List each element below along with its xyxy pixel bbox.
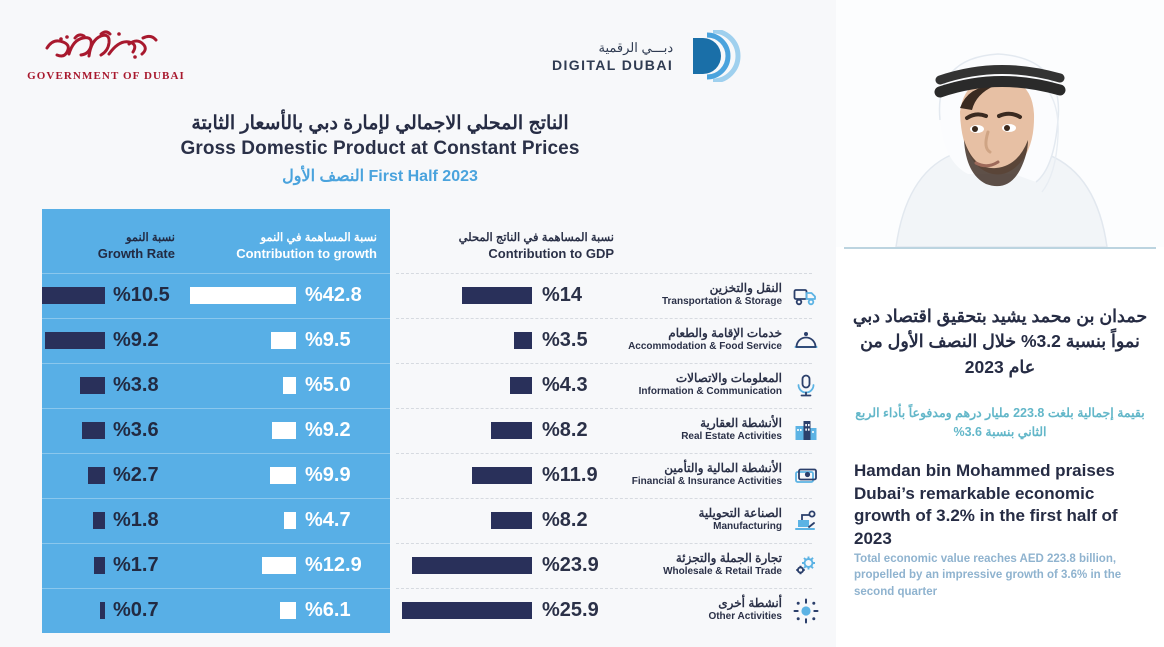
food-dome-icon [786,318,826,363]
sidebar-subtext-arabic: بقيمة إجمالية بلغت 223.8 مليار درهم ومدف… [852,404,1148,442]
cell-contribution-to-gdp: %14 [392,273,622,318]
table-row: %2.7%9.9%11.9الأنشطة المالية والتأمينFin… [0,453,836,498]
sector-label-arabic: تجارة الجملة والتجزئة [624,551,782,565]
sector-label-arabic: المعلومات والاتصالات [624,371,782,385]
sidebar-divider [844,247,1156,249]
cell-contribution-to-gdp: %8.2 [392,498,622,543]
cell-sector-label: النقل والتخزينTransportation & Storage [624,273,782,318]
column-header-growth-rate-arabic: نسبة النمو [42,231,175,245]
growth-rate-bar [42,287,105,304]
cell-sector-label: تجارة الجملة والتجزئةWholesale & Retail … [624,543,782,588]
cell-contribution-to-gdp: %11.9 [392,453,622,498]
cell-contribution-to-growth: %6.1 [190,588,387,633]
growth-rate-value: %1.7 [113,554,175,577]
cell-growth-rate: %10.5 [42,273,187,318]
government-of-dubai-logo: GOVERNMENT OF DUBAI [26,26,186,82]
growth-rate-value: %1.8 [113,509,175,532]
contribution-to-gdp-value: %3.5 [542,329,618,352]
contribution-to-gdp-bar [412,557,532,574]
page-title-english: Gross Domestic Product at Constant Price… [0,138,760,160]
contribution-to-gdp-bar [514,332,532,349]
cell-contribution-to-growth: %12.9 [190,543,387,588]
column-header-growth-rate: نسبة النمو Growth Rate [42,209,187,273]
truck-icon [786,273,826,318]
digital-dubai-d-mark-icon [683,30,741,82]
sector-label-arabic: أنشطة أخرى [624,596,782,610]
growth-rate-value: %2.7 [113,464,175,487]
contribution-to-gdp-value: %23.9 [542,554,618,577]
sector-label-english: Manufacturing [624,521,782,534]
sector-label-english: Other Activities [624,611,782,624]
contribution-to-gdp-value: %4.3 [542,374,618,397]
contribution-to-gdp-bar [402,602,532,619]
contribution-to-gdp-bar [472,467,532,484]
cell-sector-label: الأنشطة المالية والتأمينFinancial & Insu… [624,453,782,498]
growth-rate-value: %3.6 [113,419,175,442]
sector-label-english: Wholesale & Retail Trade [624,566,782,579]
column-header-contribution-to-gdp-arabic: نسبة المساهمة في الناتج المحلي [392,231,614,245]
cell-contribution-to-growth: %9.5 [190,318,387,363]
digital-dubai-wordmark: دبـــي الرقمية DIGITAL DUBAI [552,40,673,73]
infographic-root: GOVERNMENT OF DUBAI دبـــي الرقمية DIGIT… [0,0,1164,647]
contribution-to-growth-value: %42.8 [305,284,377,307]
cell-contribution-to-growth: %5.0 [190,363,387,408]
sector-label-english: Financial & Insurance Activities [624,476,782,489]
sector-label-arabic: الأنشطة العقارية [624,416,782,430]
cell-sector-label: الصناعة التحويليةManufacturing [624,498,782,543]
digital-dubai-english-label: DIGITAL DUBAI [552,57,673,73]
growth-rate-bar [100,602,105,619]
contribution-to-growth-value: %9.9 [305,464,377,487]
cell-growth-rate: %2.7 [42,453,187,498]
portrait-photo [836,0,1164,247]
contribution-to-growth-value: %4.7 [305,509,377,532]
sidebar-headline-english: Hamdan bin Mohammed praises Dubai’s rema… [854,460,1146,550]
contribution-to-growth-value: %9.5 [305,329,377,352]
sector-label-arabic: خدمات الإقامة والطعام [624,326,782,340]
cell-contribution-to-growth: %9.9 [190,453,387,498]
contribution-to-gdp-value: %14 [542,284,618,307]
contribution-to-gdp-bar [491,512,532,529]
contribution-to-gdp-value: %8.2 [542,509,618,532]
cell-growth-rate: %1.7 [42,543,187,588]
contribution-to-growth-bar [283,377,296,394]
contribution-to-growth-bar [190,287,296,304]
growth-rate-bar [93,512,105,529]
table-row: %0.7%6.1%25.9أنشطة أخرىOther Activities [0,588,836,633]
cell-contribution-to-growth: %42.8 [190,273,387,318]
growth-rate-bar [88,467,105,484]
table-row: %1.8%4.7%8.2الصناعة التحويليةManufacturi… [0,498,836,543]
contribution-to-growth-value: %6.1 [305,599,377,622]
contribution-to-gdp-value: %11.9 [542,464,618,487]
table-row: %3.8%5.0%4.3المعلومات والاتصالاتInformat… [0,363,836,408]
sidebar-headline-arabic: حمدان بن محمد يشيد بتحقيق اقتصاد دبي نمو… [852,304,1148,380]
table-row: %9.2%9.5%3.5خدمات الإقامة والطعامAccommo… [0,318,836,363]
microphone-icon [786,363,826,408]
contribution-to-growth-bar [262,557,296,574]
growth-rate-value: %9.2 [113,329,175,352]
digital-dubai-logo: دبـــي الرقمية DIGITAL DUBAI [552,30,741,82]
growth-rate-value: %10.5 [113,284,175,307]
growth-rate-bar [45,332,105,349]
starburst-icon [786,588,826,633]
cell-sector-label: الأنشطة العقاريةReal Estate Activities [624,408,782,453]
buildings-icon [786,408,826,453]
cell-sector-label: أنشطة أخرىOther Activities [624,588,782,633]
cell-sector-label: المعلومات والاتصالاتInformation & Commun… [624,363,782,408]
cell-growth-rate: %3.8 [42,363,187,408]
column-header-growth-rate-english: Growth Rate [42,246,175,262]
machine-icon [786,498,826,543]
contribution-to-gdp-bar [491,422,532,439]
gears-icon [786,543,826,588]
contribution-to-growth-value: %12.9 [305,554,377,577]
sector-label-arabic: الصناعة التحويلية [624,506,782,520]
sector-label-english: Real Estate Activities [624,431,782,444]
contribution-to-growth-value: %9.2 [305,419,377,442]
money-icon [786,453,826,498]
growth-rate-bar [80,377,105,394]
sector-label-arabic: النقل والتخزين [624,281,782,295]
cell-growth-rate: %3.6 [42,408,187,453]
growth-rate-value: %3.8 [113,374,175,397]
period-subtitle-english: First Half 2023 [369,168,478,185]
period-subtitle: النصف الأول First Half 2023 [0,166,760,186]
cell-contribution-to-gdp: %8.2 [392,408,622,453]
table-row: %3.6%9.2%8.2الأنشطة العقاريةReal Estate … [0,408,836,453]
government-of-dubai-label: GOVERNMENT OF DUBAI [26,70,186,82]
column-header-contribution-to-growth-arabic: نسبة المساهمة في النمو [190,231,377,245]
contribution-to-growth-bar [271,332,296,349]
gdp-table: نسبة النمو Growth Rate نسبة المساهمة في … [0,209,836,633]
growth-rate-value: %0.7 [113,599,175,622]
period-subtitle-arabic: النصف الأول [282,168,364,185]
column-header-contribution-to-growth-english: Contribution to growth [190,246,377,262]
column-header-contribution-to-growth: نسبة المساهمة في النمو Contribution to g… [190,209,387,273]
cell-growth-rate: %1.8 [42,498,187,543]
sidebar-subtext-english: Total economic value reaches AED 223.8 b… [854,551,1142,600]
contribution-to-gdp-bar [462,287,532,304]
contribution-to-gdp-value: %8.2 [542,419,618,442]
contribution-to-gdp-value: %25.9 [542,599,618,622]
contribution-to-growth-value: %5.0 [305,374,377,397]
cell-contribution-to-gdp: %3.5 [392,318,622,363]
cell-contribution-to-growth: %9.2 [190,408,387,453]
contribution-to-growth-bar [280,602,296,619]
cell-growth-rate: %0.7 [42,588,187,633]
growth-rate-bar [94,557,105,574]
titles-block: الناتج المحلي الاجمالي لإمارة دبي بالأسع… [0,112,760,186]
cell-contribution-to-growth: %4.7 [190,498,387,543]
digital-dubai-arabic-label: دبـــي الرقمية [552,40,673,56]
contribution-to-gdp-bar [510,377,532,394]
table-row: %1.7%12.9%23.9تجارة الجملة والتجزئةWhole… [0,543,836,588]
column-header-contribution-to-gdp: نسبة المساهمة في الناتج المحلي Contribut… [392,209,620,273]
column-header-contribution-to-gdp-english: Contribution to GDP [392,246,614,262]
growth-rate-bar [82,422,105,439]
contribution-to-growth-bar [272,422,296,439]
cell-contribution-to-gdp: %4.3 [392,363,622,408]
main-panel: GOVERNMENT OF DUBAI دبـــي الرقمية DIGIT… [0,0,836,647]
contribution-to-growth-bar [270,467,296,484]
sector-label-english: Transportation & Storage [624,296,782,309]
government-of-dubai-arabic-mark-icon [26,26,186,66]
page-title-arabic: الناتج المحلي الاجمالي لإمارة دبي بالأسع… [0,112,760,135]
cell-contribution-to-gdp: %23.9 [392,543,622,588]
contribution-to-growth-bar [284,512,296,529]
cell-growth-rate: %9.2 [42,318,187,363]
cell-contribution-to-gdp: %25.9 [392,588,622,633]
cell-sector-label: خدمات الإقامة والطعامAccommodation & Foo… [624,318,782,363]
sector-label-english: Accommodation & Food Service [624,341,782,354]
sector-label-english: Information & Communication [624,386,782,399]
table-row: %10.5%42.8%14النقل والتخزينTransportatio… [0,273,836,318]
sector-label-arabic: الأنشطة المالية والتأمين [624,461,782,475]
